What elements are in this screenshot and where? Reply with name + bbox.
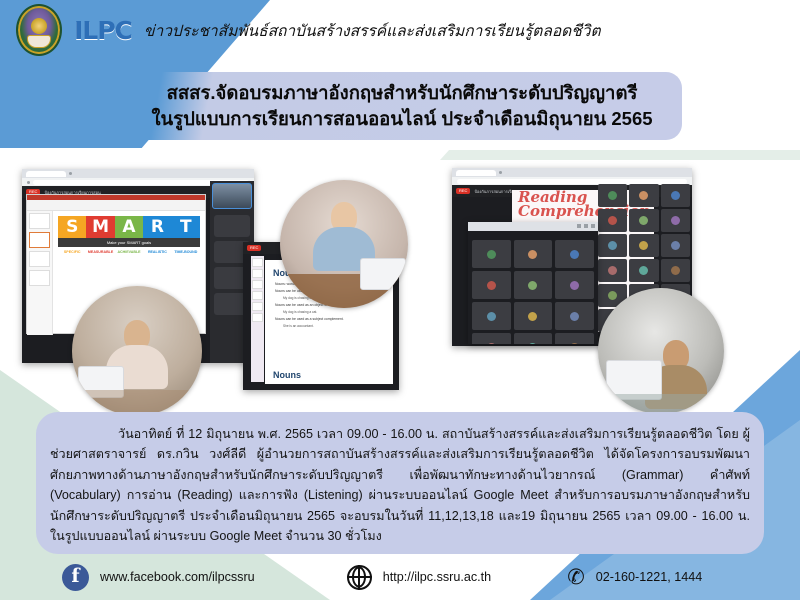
- nouns-sub-bullet: She is an accountant.: [283, 324, 393, 328]
- title-banner: สสสร.จัดอบรมภาษาอังกฤษสำหรับนักศึกษาระดั…: [122, 72, 682, 140]
- phone-icon: ✆: [567, 567, 585, 588]
- avatar: [487, 343, 496, 345]
- smart-letters-row: SMART: [58, 216, 200, 238]
- meet-participant-tile: [661, 184, 690, 207]
- nouns-sub-bullet: My dog is chasing a cat.: [283, 310, 393, 314]
- announcement-text-card: วันอาทิตย์ ที่ 12 มิถุนายน พ.ศ. 2565 เวล…: [36, 412, 764, 554]
- ilpc-brand-logo: ILPC: [74, 16, 132, 45]
- slide-thumbnail: [29, 270, 50, 286]
- facebook-icon: f: [62, 564, 89, 591]
- facebook-url: www.facebook.com/ilpcssru: [100, 570, 255, 584]
- avatar: [487, 250, 496, 259]
- avatar: [528, 343, 537, 345]
- avatar: [639, 216, 648, 225]
- avatar: [639, 266, 648, 275]
- url-field: [457, 179, 687, 184]
- photo-instructor-left: [72, 286, 202, 416]
- footer-facebook[interactable]: f www.facebook.com/ilpcssru: [62, 564, 255, 591]
- meet-participant-tile: [555, 240, 594, 268]
- page-header: ILPC ข่าวประชาสัมพันธ์สถาบันสร้างสรรค์แล…: [0, 0, 800, 60]
- nouns-next-slide-title: Nouns: [273, 370, 393, 380]
- meet-participant-tile: [629, 209, 658, 232]
- avatar: [528, 281, 537, 290]
- avatar: [570, 250, 579, 259]
- smart-letter-r: R: [143, 216, 171, 238]
- meet-participant-tile: [661, 259, 690, 282]
- smart-icon-label: TIME-BOUND: [172, 250, 200, 254]
- footer-phone: ✆ 02-160-1221, 1444: [567, 567, 702, 588]
- avatar: [608, 191, 617, 200]
- ssru-crest-icon: [16, 4, 62, 56]
- footer-website[interactable]: http://ilpc.ssru.ac.th: [347, 565, 492, 590]
- meet-participant-tile: [514, 333, 553, 344]
- browser-tab: [456, 170, 496, 176]
- avatar: [671, 191, 680, 200]
- page-title-line-1: สสสร.จัดอบรมภาษาอังกฤษสำหรับนักศึกษาระดั…: [167, 80, 638, 106]
- meet-participant-tile: [514, 302, 553, 330]
- smart-letter-s: S: [58, 216, 86, 238]
- minimize-icon: [577, 224, 581, 228]
- meet-participant-tile: [214, 215, 250, 237]
- smart-icon-label: ACHIEVABLE: [115, 250, 143, 254]
- meet-participant-tile: [598, 209, 627, 232]
- back-arrow-icon: [27, 181, 30, 184]
- avatar: [639, 241, 648, 250]
- avatar: [608, 266, 617, 275]
- browser-tab: [26, 171, 66, 177]
- avatar: [528, 250, 537, 259]
- globe-icon: [347, 565, 372, 590]
- slide-rail: [251, 256, 264, 382]
- smart-letter-a: A: [115, 216, 143, 238]
- page-title-line-2: ในรูปแบบการเรียนการสอนออนไลน์ ประจำเดือน…: [151, 106, 652, 132]
- meet-participant-tile: [555, 333, 594, 344]
- recording-badge: REC: [456, 188, 470, 194]
- photo-instructor-center: [280, 180, 408, 308]
- smart-subtitle: Make your SMART goals: [58, 238, 200, 247]
- meet-participant-tile: [661, 209, 690, 232]
- smart-icon-label: MEASURABLE: [86, 250, 114, 254]
- avatar: [671, 266, 680, 275]
- maximize-icon: [584, 224, 588, 228]
- slide-thumbnail: [29, 213, 50, 229]
- ppt-slide-rail: [27, 211, 53, 335]
- meet-participant-tile: [472, 240, 511, 268]
- avatar: [608, 216, 617, 225]
- smart-icon-label: REALISTIC: [143, 250, 171, 254]
- phone-number: 02-160-1221, 1444: [596, 570, 702, 584]
- slide-thumbnail-selected: [29, 232, 50, 248]
- meet-participant-tile: [472, 333, 511, 344]
- close-icon: [69, 172, 72, 175]
- avatar: [608, 241, 617, 250]
- meet-participant-tile: [514, 240, 553, 268]
- meet-participant-tile: [555, 302, 594, 330]
- recording-badge: REC: [247, 245, 261, 251]
- meet-participant-tile: [472, 302, 511, 330]
- meet-participant-tile: [598, 234, 627, 257]
- meet-participant-tile: [629, 184, 658, 207]
- website-url: http://ilpc.ssru.ac.th: [383, 570, 492, 584]
- meet-participant-tile: [598, 184, 627, 207]
- meet-participant-tile: [598, 259, 627, 282]
- close-icon: [499, 171, 502, 174]
- avatar: [528, 312, 537, 321]
- announcement-paragraph: วันอาทิตย์ ที่ 12 มิถุนายน พ.ศ. 2565 เวล…: [50, 424, 750, 546]
- avatar: [487, 312, 496, 321]
- page-footer: f www.facebook.com/ilpcssru http://ilpc.…: [0, 554, 800, 600]
- photo-instructor-right: [598, 288, 724, 414]
- header-tagline: ข่าวประชาสัมพันธ์สถาบันสร้างสรรค์และส่งเ…: [144, 18, 601, 43]
- smart-icon-label: SPECIFIC: [58, 250, 86, 254]
- meet-participant-tile: [472, 271, 511, 299]
- window-controls-bar: [468, 222, 598, 231]
- nouns-bullet: Nouns can be used as a subject complemen…: [275, 317, 393, 321]
- avatar: [671, 241, 680, 250]
- browser-tab-bar: [452, 168, 692, 177]
- avatar: [671, 216, 680, 225]
- avatar: [570, 312, 579, 321]
- meet-participant-tile: [661, 234, 690, 257]
- avatar: [639, 191, 648, 200]
- smart-letter-m: M: [86, 216, 114, 238]
- ppt-ribbon: [27, 195, 205, 211]
- meet-participant-tile: [629, 234, 658, 257]
- smart-icon-labels: SPECIFICMEASURABLEACHIEVABLEREALISTICTIM…: [58, 250, 200, 254]
- photo-collage: REC ป้องกันการสอนการเรียนการสอน SMART Ma…: [0, 160, 800, 410]
- meet-self-video-tile: [212, 183, 252, 209]
- avatar: [570, 281, 579, 290]
- close-icon: [591, 224, 595, 228]
- slide-thumbnail: [29, 251, 50, 267]
- smart-letter-t: T: [172, 216, 200, 238]
- poster-canvas: ILPC ข่าวประชาสัมพันธ์สถาบันสร้างสรรค์แล…: [0, 0, 800, 600]
- screenshot-meet-grid-window: [468, 222, 598, 344]
- avatar: [487, 281, 496, 290]
- avatar: [608, 291, 617, 300]
- meet-participant-grid: [472, 240, 594, 340]
- meet-participant-tile: [514, 271, 553, 299]
- browser-tab-bar: [22, 169, 254, 178]
- meet-participant-tile: [629, 259, 658, 282]
- avatar: [570, 343, 579, 345]
- meet-participant-tile: [555, 271, 594, 299]
